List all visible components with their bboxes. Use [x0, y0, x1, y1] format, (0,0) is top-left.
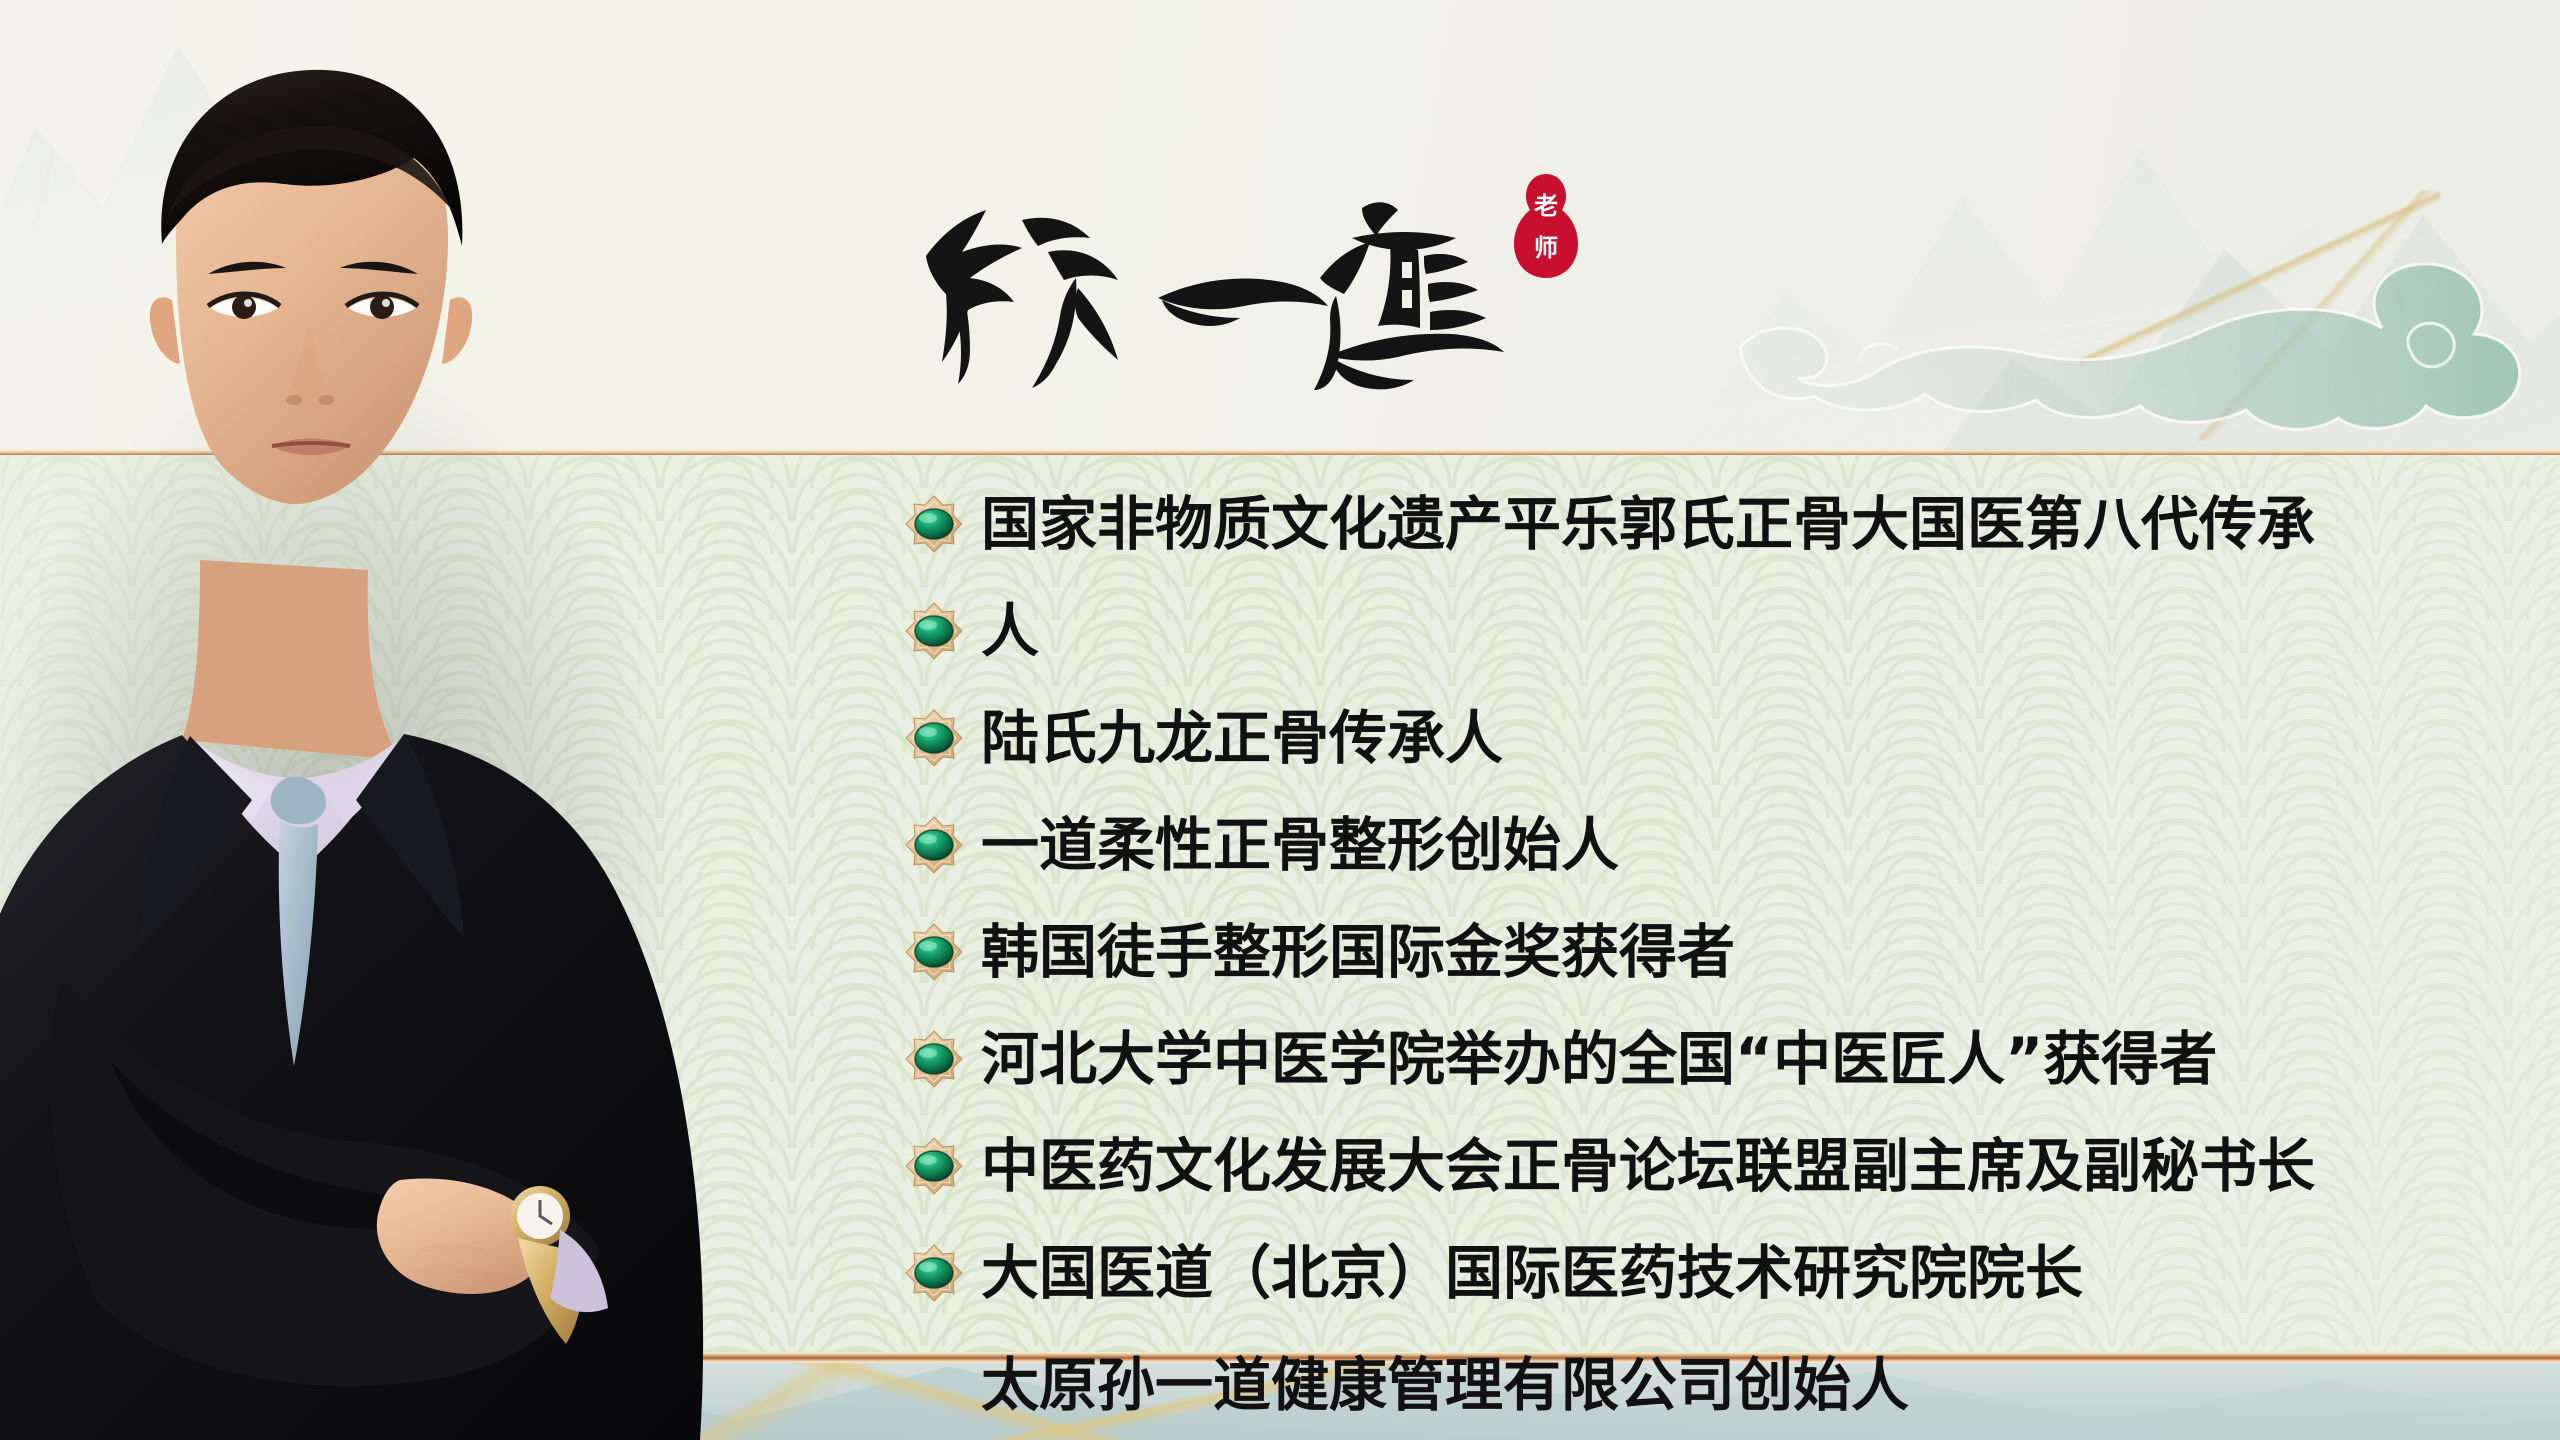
credential-row: 大国医道（北京）国际医药技术研究院院长: [905, 1219, 2525, 1326]
credential-text: 太原孙一道健康管理有限公司创始人: [981, 1354, 1909, 1416]
credential-row: 河北大学中医学院举办的全国“中医匠人”获得者: [905, 1005, 2525, 1112]
credential-text: 陆氏九龙正骨传承人: [981, 707, 1503, 769]
seal-char-2: 师: [1534, 234, 1558, 262]
credential-text: 国家非物质文化遗产平乐郭氏正骨大国医第八代传承: [981, 493, 2315, 555]
credential-row: 陆氏九龙正骨传承人: [905, 684, 2525, 791]
seal-char-1: 老: [1534, 192, 1558, 220]
credential-text: 中医药文化发展大会正骨论坛联盟副主席及副秘书长: [981, 1135, 2315, 1197]
credential-row: 人: [905, 577, 2525, 684]
auspicious-cloud-icon: [1710, 230, 2530, 455]
portrait-illustration: [0, 0, 960, 1440]
neck: [182, 560, 400, 760]
red-seal-stamp-icon: 老 师: [1510, 172, 1582, 280]
poster-canvas: 老 师 国家非物质文化遗产平乐郭氏正骨大国医第八代传承人陆氏九龙正骨传承人一道柔…: [0, 0, 2560, 1440]
credential-text: 韩国徒手整形国际金奖获得者: [981, 921, 1735, 983]
credential-row: 国家非物质文化遗产平乐郭氏正骨大国医第八代传承: [905, 470, 2525, 577]
credential-row: 韩国徒手整形国际金奖获得者: [905, 898, 2525, 1005]
credential-list: 国家非物质文化遗产平乐郭氏正骨大国医第八代传承人陆氏九龙正骨传承人一道柔性正骨整…: [905, 470, 2525, 1440]
credential-text: 一道柔性正骨整形创始人: [981, 814, 1619, 876]
brand-title: 老 师: [900, 160, 1620, 420]
calligraphy-name-icon: [900, 160, 1520, 390]
credential-row: 太原孙一道健康管理有限公司创始人: [905, 1326, 2525, 1440]
credential-text: 大国医道（北京）国际医药技术研究院院长: [981, 1242, 2083, 1304]
credential-text: 人: [981, 600, 1039, 662]
credential-row: 中医药文化发展大会正骨论坛联盟副主席及副秘书长: [905, 1112, 2525, 1219]
credential-text: 河北大学中医学院举办的全国“中医匠人”获得者: [981, 1028, 2217, 1090]
credential-row: 一道柔性正骨整形创始人: [905, 791, 2525, 898]
portrait-photo: [0, 0, 960, 1440]
